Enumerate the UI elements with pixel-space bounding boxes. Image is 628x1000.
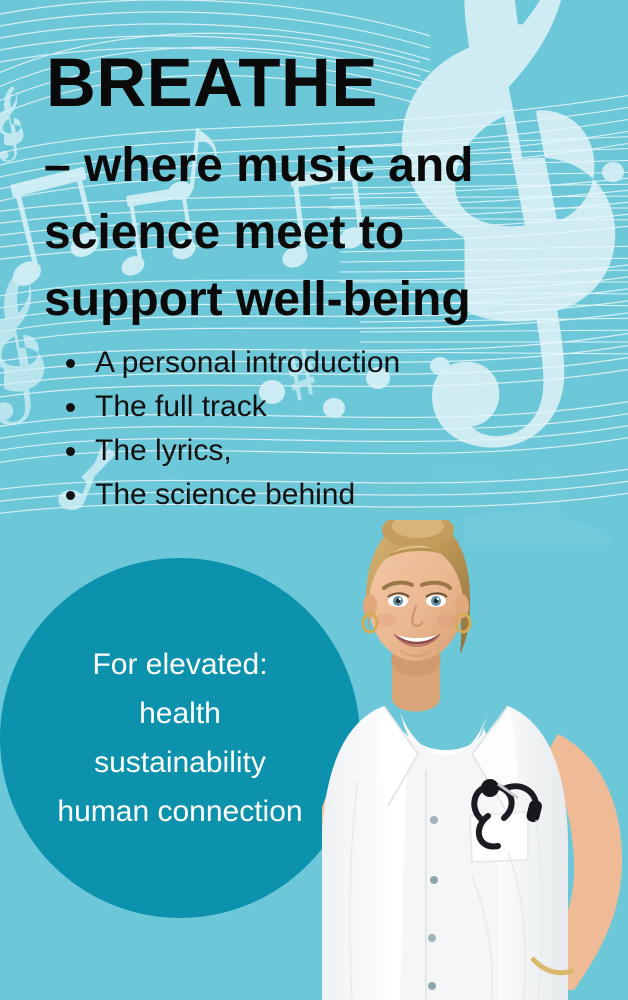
list-item-label: The science behind — [95, 478, 355, 511]
presenter-photo — [322, 520, 628, 1000]
value-circle-line: sustainability — [5, 738, 355, 787]
stethoscope-bell-icon — [481, 779, 499, 797]
page-subtitle: – where music and science meet to suppor… — [44, 132, 544, 333]
value-circle-line: For elevated: — [5, 640, 355, 689]
presenter-portrait-illustration — [322, 520, 628, 1000]
poster-canvas: BREATHE – where music and science meet t… — [0, 0, 628, 1000]
bullet-dot-icon — [66, 491, 75, 500]
bullet-dot-icon — [66, 447, 75, 456]
bullet-dot-icon — [66, 359, 75, 368]
subtitle-line: support well-being — [44, 266, 544, 333]
value-circle-callout: For elevated: health sustainability huma… — [0, 558, 360, 918]
list-item: A personal introduction — [62, 341, 400, 385]
bullet-dot-icon — [66, 403, 75, 412]
value-circle-line: human connection — [5, 787, 355, 836]
page-title: BREATHE — [46, 48, 378, 117]
value-circle-text: For elevated: health sustainability huma… — [5, 640, 355, 836]
subtitle-line: science meet to — [44, 199, 544, 266]
list-item-label: The full track — [95, 390, 267, 423]
list-item: The lyrics, — [62, 429, 400, 473]
contents-bullet-list: A personal introduction The full track T… — [62, 341, 400, 517]
list-item: The science behind — [62, 473, 400, 517]
value-circle-line: health — [5, 689, 355, 738]
subtitle-line: – where music and — [44, 132, 544, 199]
list-item: The full track — [62, 385, 400, 429]
list-item-label: The lyrics, — [95, 434, 232, 467]
list-item-label: A personal introduction — [95, 346, 400, 379]
